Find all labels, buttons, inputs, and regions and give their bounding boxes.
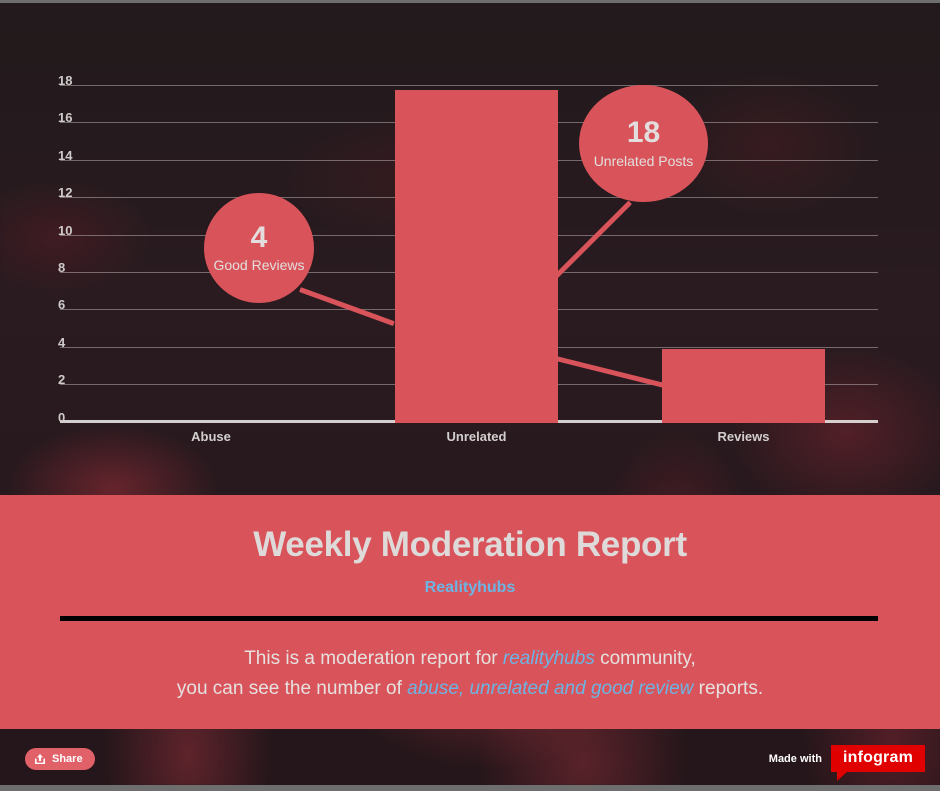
callout-unrelated-posts-value: 18 (627, 117, 660, 149)
gridline-18 (60, 85, 878, 86)
infogram-logo[interactable]: infogram (831, 745, 925, 772)
leader-line-unrelated-posts (554, 200, 632, 278)
infographic-root: 18 16 14 12 10 8 6 4 2 0 4 Good Reviews … (0, 0, 940, 791)
callout-good-reviews-label: Good Reviews (213, 257, 304, 274)
share-icon (34, 754, 46, 765)
x-tick-abuse: Abuse (130, 430, 292, 443)
body-line1-part-a: This is a moderation report for (244, 648, 503, 669)
callout-good-reviews-value: 4 (251, 222, 268, 254)
y-tick-12: 12 (58, 186, 72, 199)
made-with-label: Made with (769, 753, 822, 765)
body-line2-highlight: abuse, unrelated and good review (407, 678, 693, 699)
y-tick-18: 18 (58, 74, 72, 87)
x-tick-reviews: Reviews (662, 430, 825, 443)
body-text-line-2: you can see the number of abuse, unrelat… (0, 678, 940, 701)
y-tick-8: 8 (58, 261, 65, 274)
body-text-line-1: This is a moderation report for realityh… (0, 648, 940, 671)
title-divider (60, 616, 878, 621)
x-tick-unrelated: Unrelated (395, 430, 558, 443)
y-tick-10: 10 (58, 224, 72, 237)
callout-unrelated-posts-label: Unrelated Posts (594, 153, 694, 170)
body-line2-part-b: reports. (693, 678, 763, 699)
caption-band: Weekly Moderation Report Realityhubs Thi… (0, 495, 940, 729)
y-tick-0: 0 (58, 411, 65, 424)
bottom-chrome-strip (0, 785, 940, 791)
bar-unrelated[interactable] (395, 90, 558, 423)
made-with-infogram[interactable]: Made with infogram (769, 745, 925, 772)
callout-unrelated-posts[interactable]: 18 Unrelated Posts (579, 85, 708, 202)
page-subtitle: Realityhubs (0, 579, 940, 597)
body-line2-part-a: you can see the number of (177, 678, 407, 699)
y-tick-6: 6 (58, 298, 65, 311)
y-tick-4: 4 (58, 336, 65, 349)
body-line1-part-b: community, (595, 648, 696, 669)
leader-line-good-reviews (299, 287, 395, 326)
y-tick-2: 2 (58, 373, 65, 386)
share-button[interactable]: Share (25, 748, 95, 770)
body-line1-highlight: realityhubs (503, 648, 595, 669)
y-tick-14: 14 (58, 149, 72, 162)
bar-reviews[interactable] (662, 349, 825, 423)
share-button-label: Share (52, 753, 83, 765)
bar-chart: 18 16 14 12 10 8 6 4 2 0 4 Good Reviews … (0, 3, 940, 495)
y-tick-16: 16 (58, 111, 72, 124)
page-title: Weekly Moderation Report (0, 525, 940, 565)
callout-good-reviews[interactable]: 4 Good Reviews (204, 193, 314, 303)
